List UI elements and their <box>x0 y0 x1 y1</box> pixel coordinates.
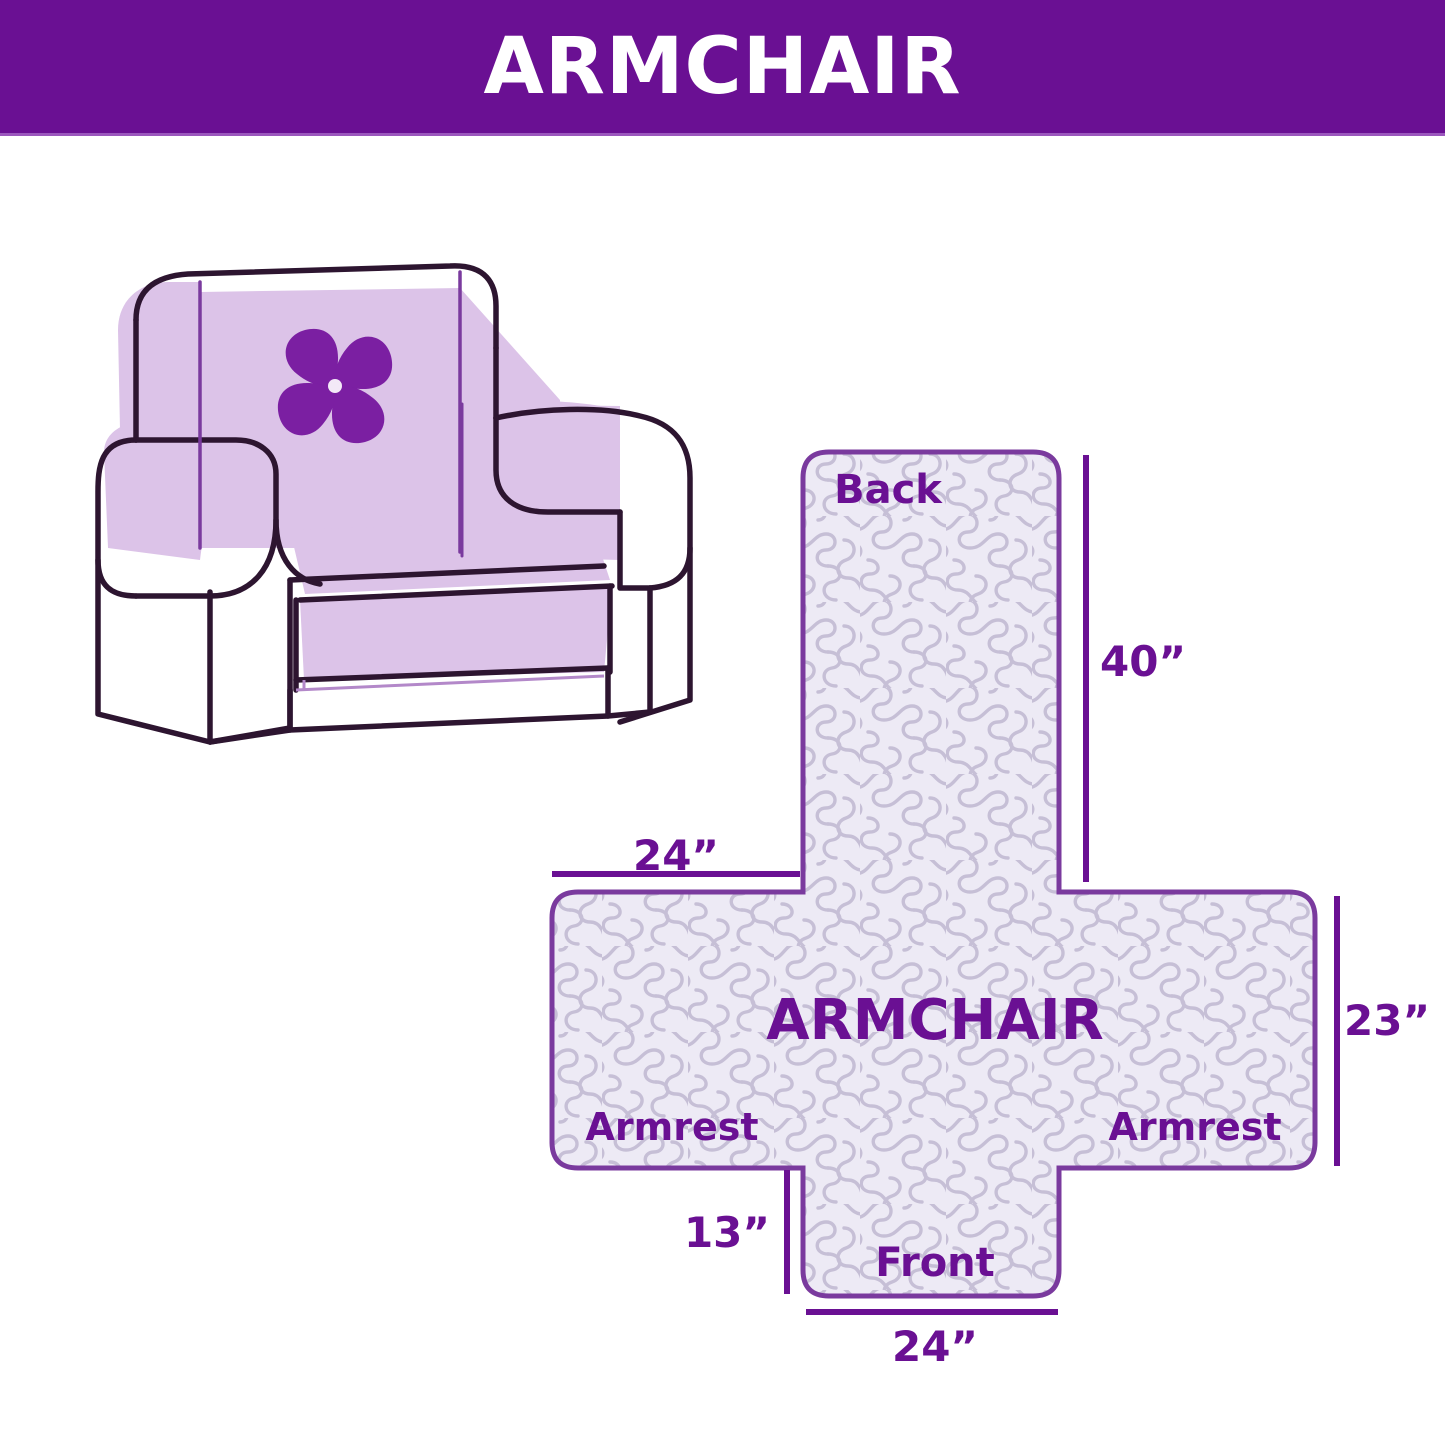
dimension-label-armrest-width: 24” <box>633 835 719 877</box>
panel-label-armrest-left: Armrest <box>585 1108 758 1146</box>
panel-label-armrest-right: Armrest <box>1108 1108 1281 1146</box>
armchair-body <box>98 266 690 742</box>
dimension-label-back-height: 40” <box>1100 641 1186 683</box>
dimension-label-center-height: 23” <box>1344 1000 1430 1042</box>
panel-label-front: Front <box>875 1243 995 1283</box>
pinwheel-fan-icon <box>278 329 392 443</box>
dimension-label-front-height: 13” <box>684 1212 770 1254</box>
dimension-label-front-width: 24” <box>892 1326 978 1368</box>
panel-label-back: Back <box>834 470 942 510</box>
panel-label-armchair: ARMCHAIR <box>766 993 1103 1049</box>
page-stage: ARMCHAIR <box>0 0 1445 1445</box>
